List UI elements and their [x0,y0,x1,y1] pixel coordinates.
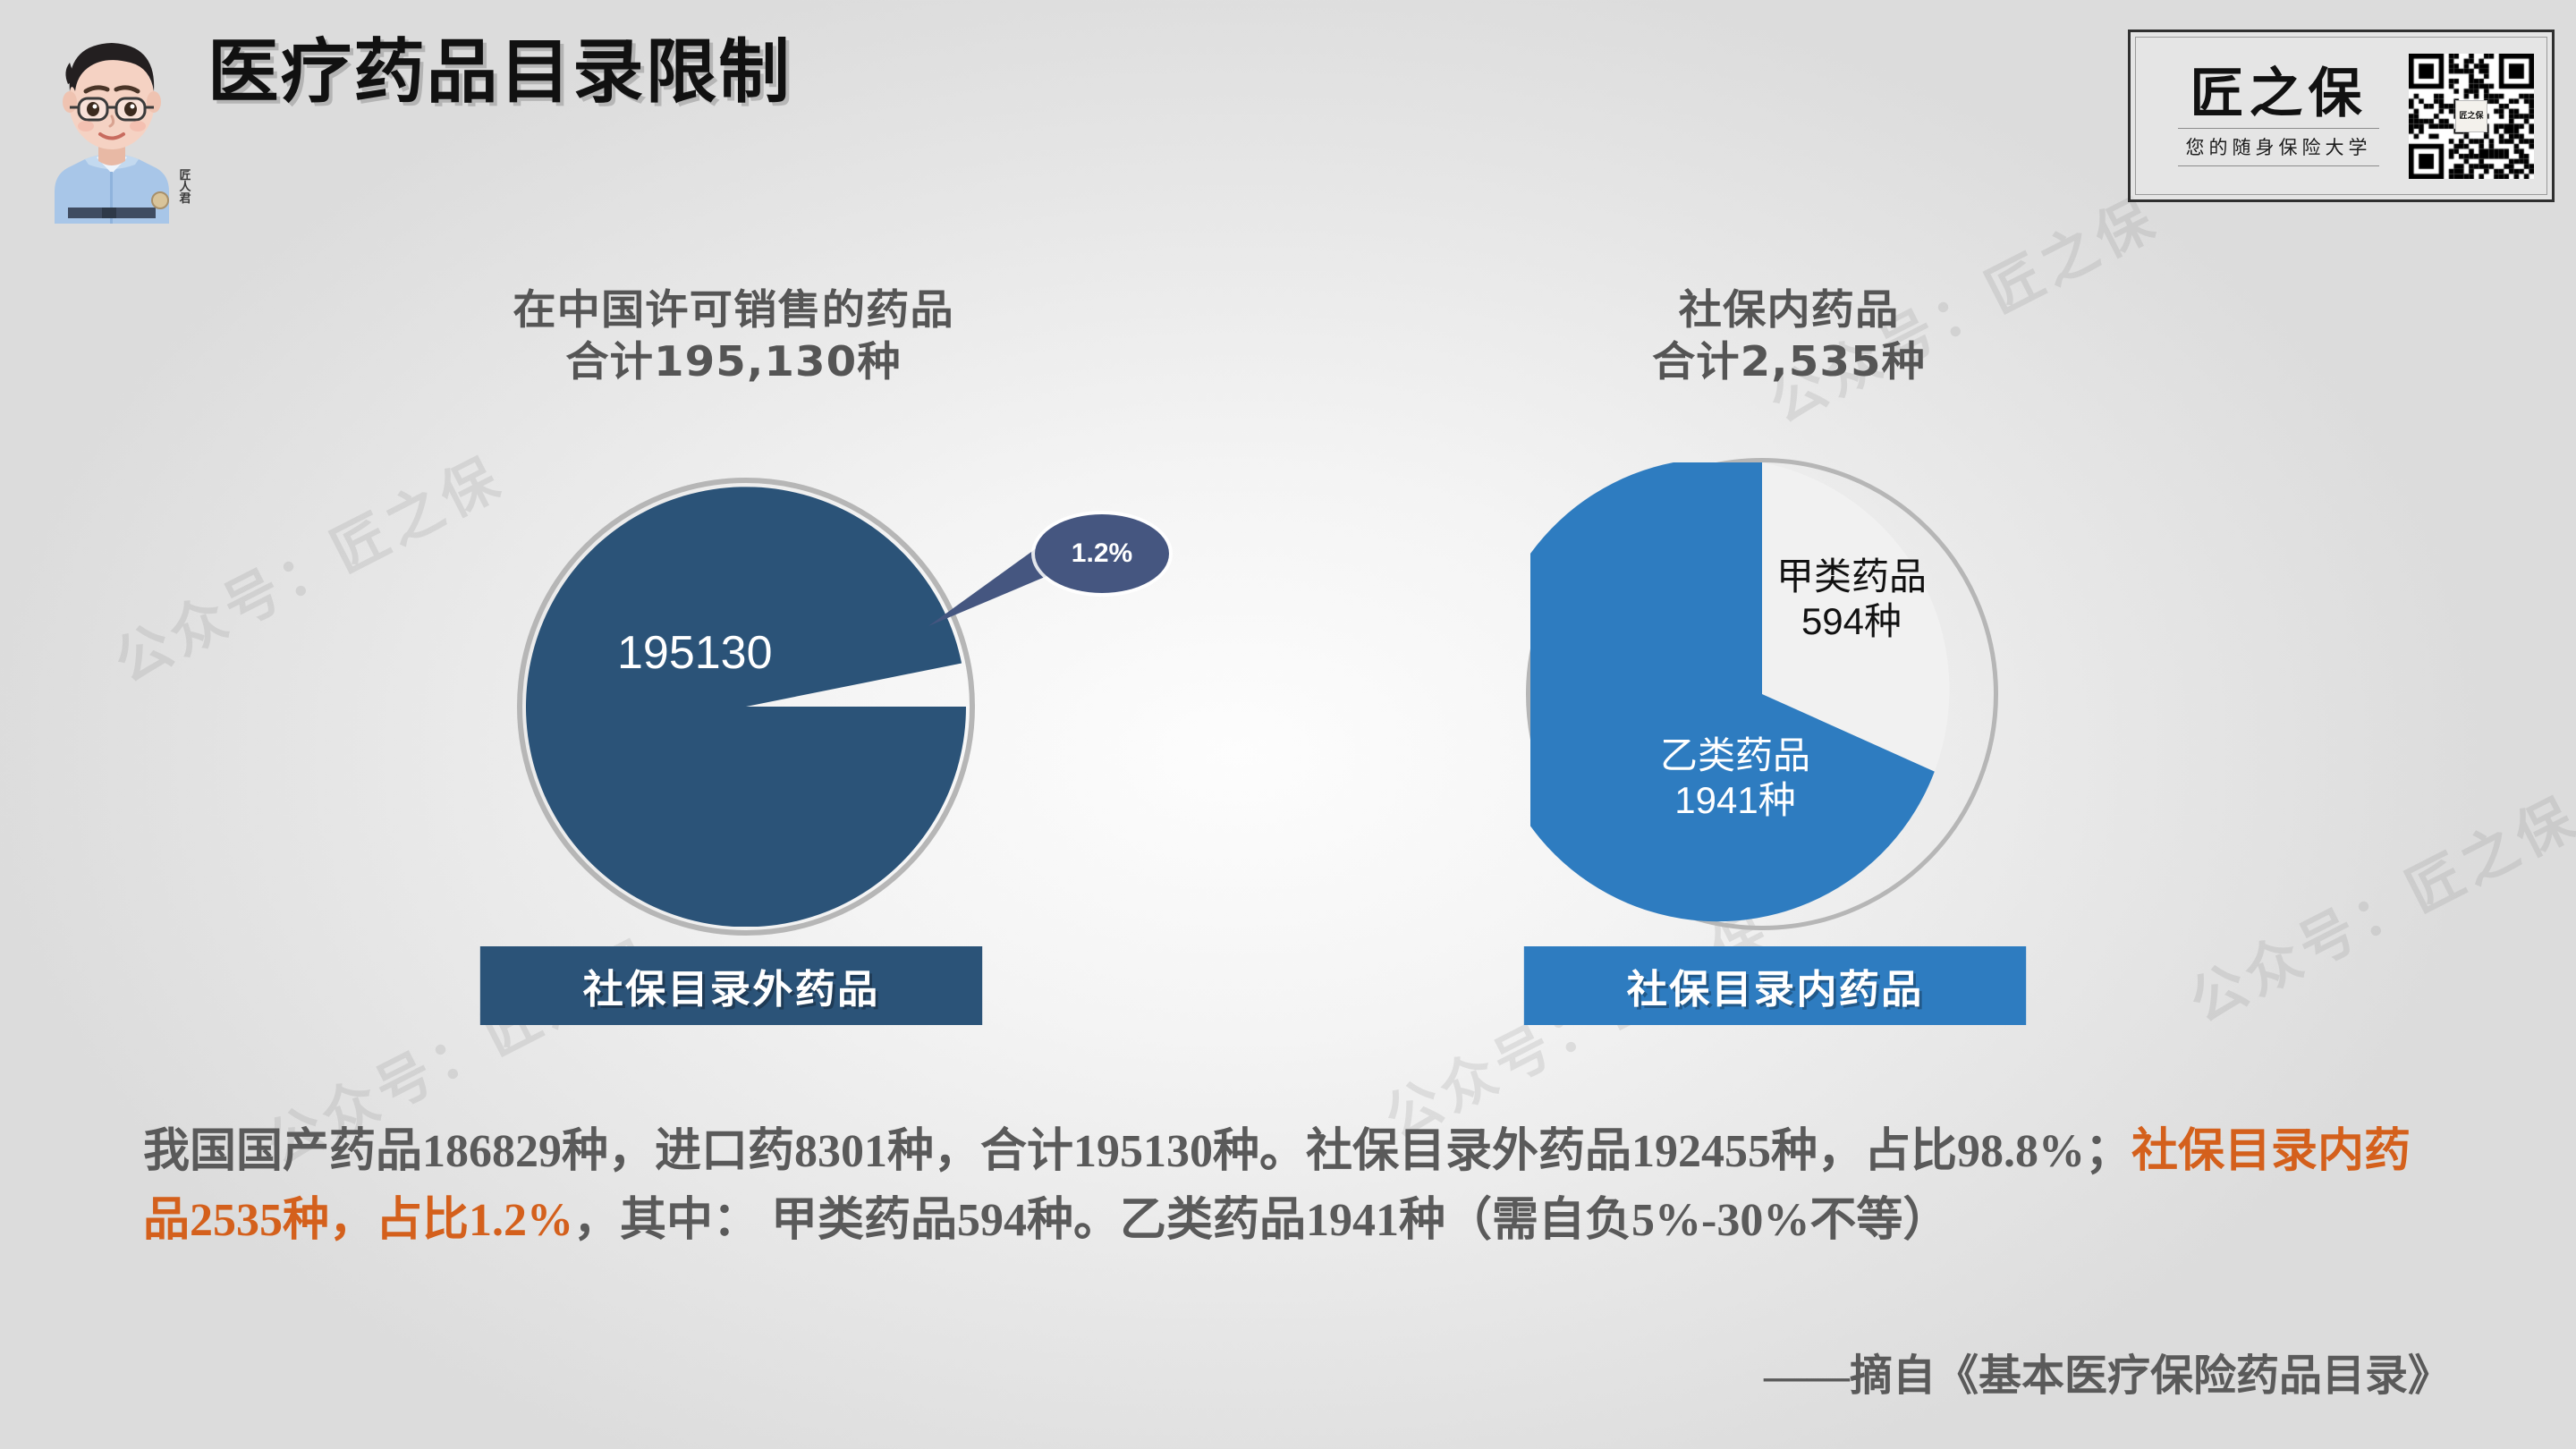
right-category-label: 社保目录内药品 [1627,957,1924,1014]
avatar-cartoon-icon [36,9,188,224]
watermark: 公众号：匠之保 [2173,773,2576,1038]
right-slice-a-label: 甲类药品 594种 [1717,555,1986,645]
slice-a-line2: 594种 [1801,600,1902,642]
avatar: 匠人君 [36,9,188,224]
page-title: 医疗药品目录限制 [208,38,792,107]
body-paragraph: 我国国产药品186829种，进口药8301种，合计195130种。社保目录外药品… [143,1118,2451,1256]
brand-logo-box: 匠之保 您的随身保险大学 匠之保 [2128,30,2555,202]
divider [2178,128,2379,129]
qr-center-label: 匠之保 [2455,100,2487,132]
left-panel-heading: 在中国许可销售的药品 合计195,130种 [358,284,1109,388]
callout-bubble: 1.2% [1035,514,1169,593]
divider [2178,165,2379,166]
brand-name: 匠之保 [2190,66,2368,123]
right-heading-line2: 合计2,535种 [1451,336,2127,388]
watermark: 公众号：匠之保 [98,433,514,698]
slice-b-line2: 1941种 [1674,779,1795,821]
qr-code-icon[interactable]: 匠之保 [2409,54,2534,179]
body-line-1: 我国国产药品186829种，进口药8301种，合计195130种。社保目录外药品… [143,1126,2131,1177]
brand-tagline: 您的随身保险大学 [2186,133,2372,160]
left-heading-line2: 合计195,130种 [358,336,1109,388]
right-heading-line1: 社保内药品 [1679,285,1900,334]
right-pie-chart[interactable] [1530,462,1994,926]
left-pie-chart[interactable] [526,487,966,927]
left-heading-line1: 在中国许可销售的药品 [513,285,954,334]
right-panel-heading: 社保内药品 合计2,535种 [1451,284,2127,388]
callout-value: 1.2% [1072,538,1132,569]
right-category-bar[interactable]: 社保目录内药品 [1524,946,2026,1025]
avatar-name: 匠人君 [179,169,191,204]
left-category-label: 社保目录外药品 [583,957,880,1014]
body-line-2: ，其中： 甲类药品594种。乙类药品1941种（需自负5%-30%不等） [573,1195,1949,1246]
right-slice-b-label: 乙类药品 1941种 [1601,733,1869,824]
slide-canvas: 公众号：匠之保 公众号：匠之保 公众号：匠之保 公众号：匠之保 公众号：匠之保 [0,0,2576,1449]
left-pie-value-label: 195130 [617,626,773,680]
left-category-bar[interactable]: 社保目录外药品 [480,946,982,1025]
source-citation: ——摘自《基本医疗保险药品目录》 [1764,1340,2451,1402]
slice-b-line1: 乙类药品 [1660,734,1810,776]
slice-a-line1: 甲类药品 [1776,555,1927,597]
